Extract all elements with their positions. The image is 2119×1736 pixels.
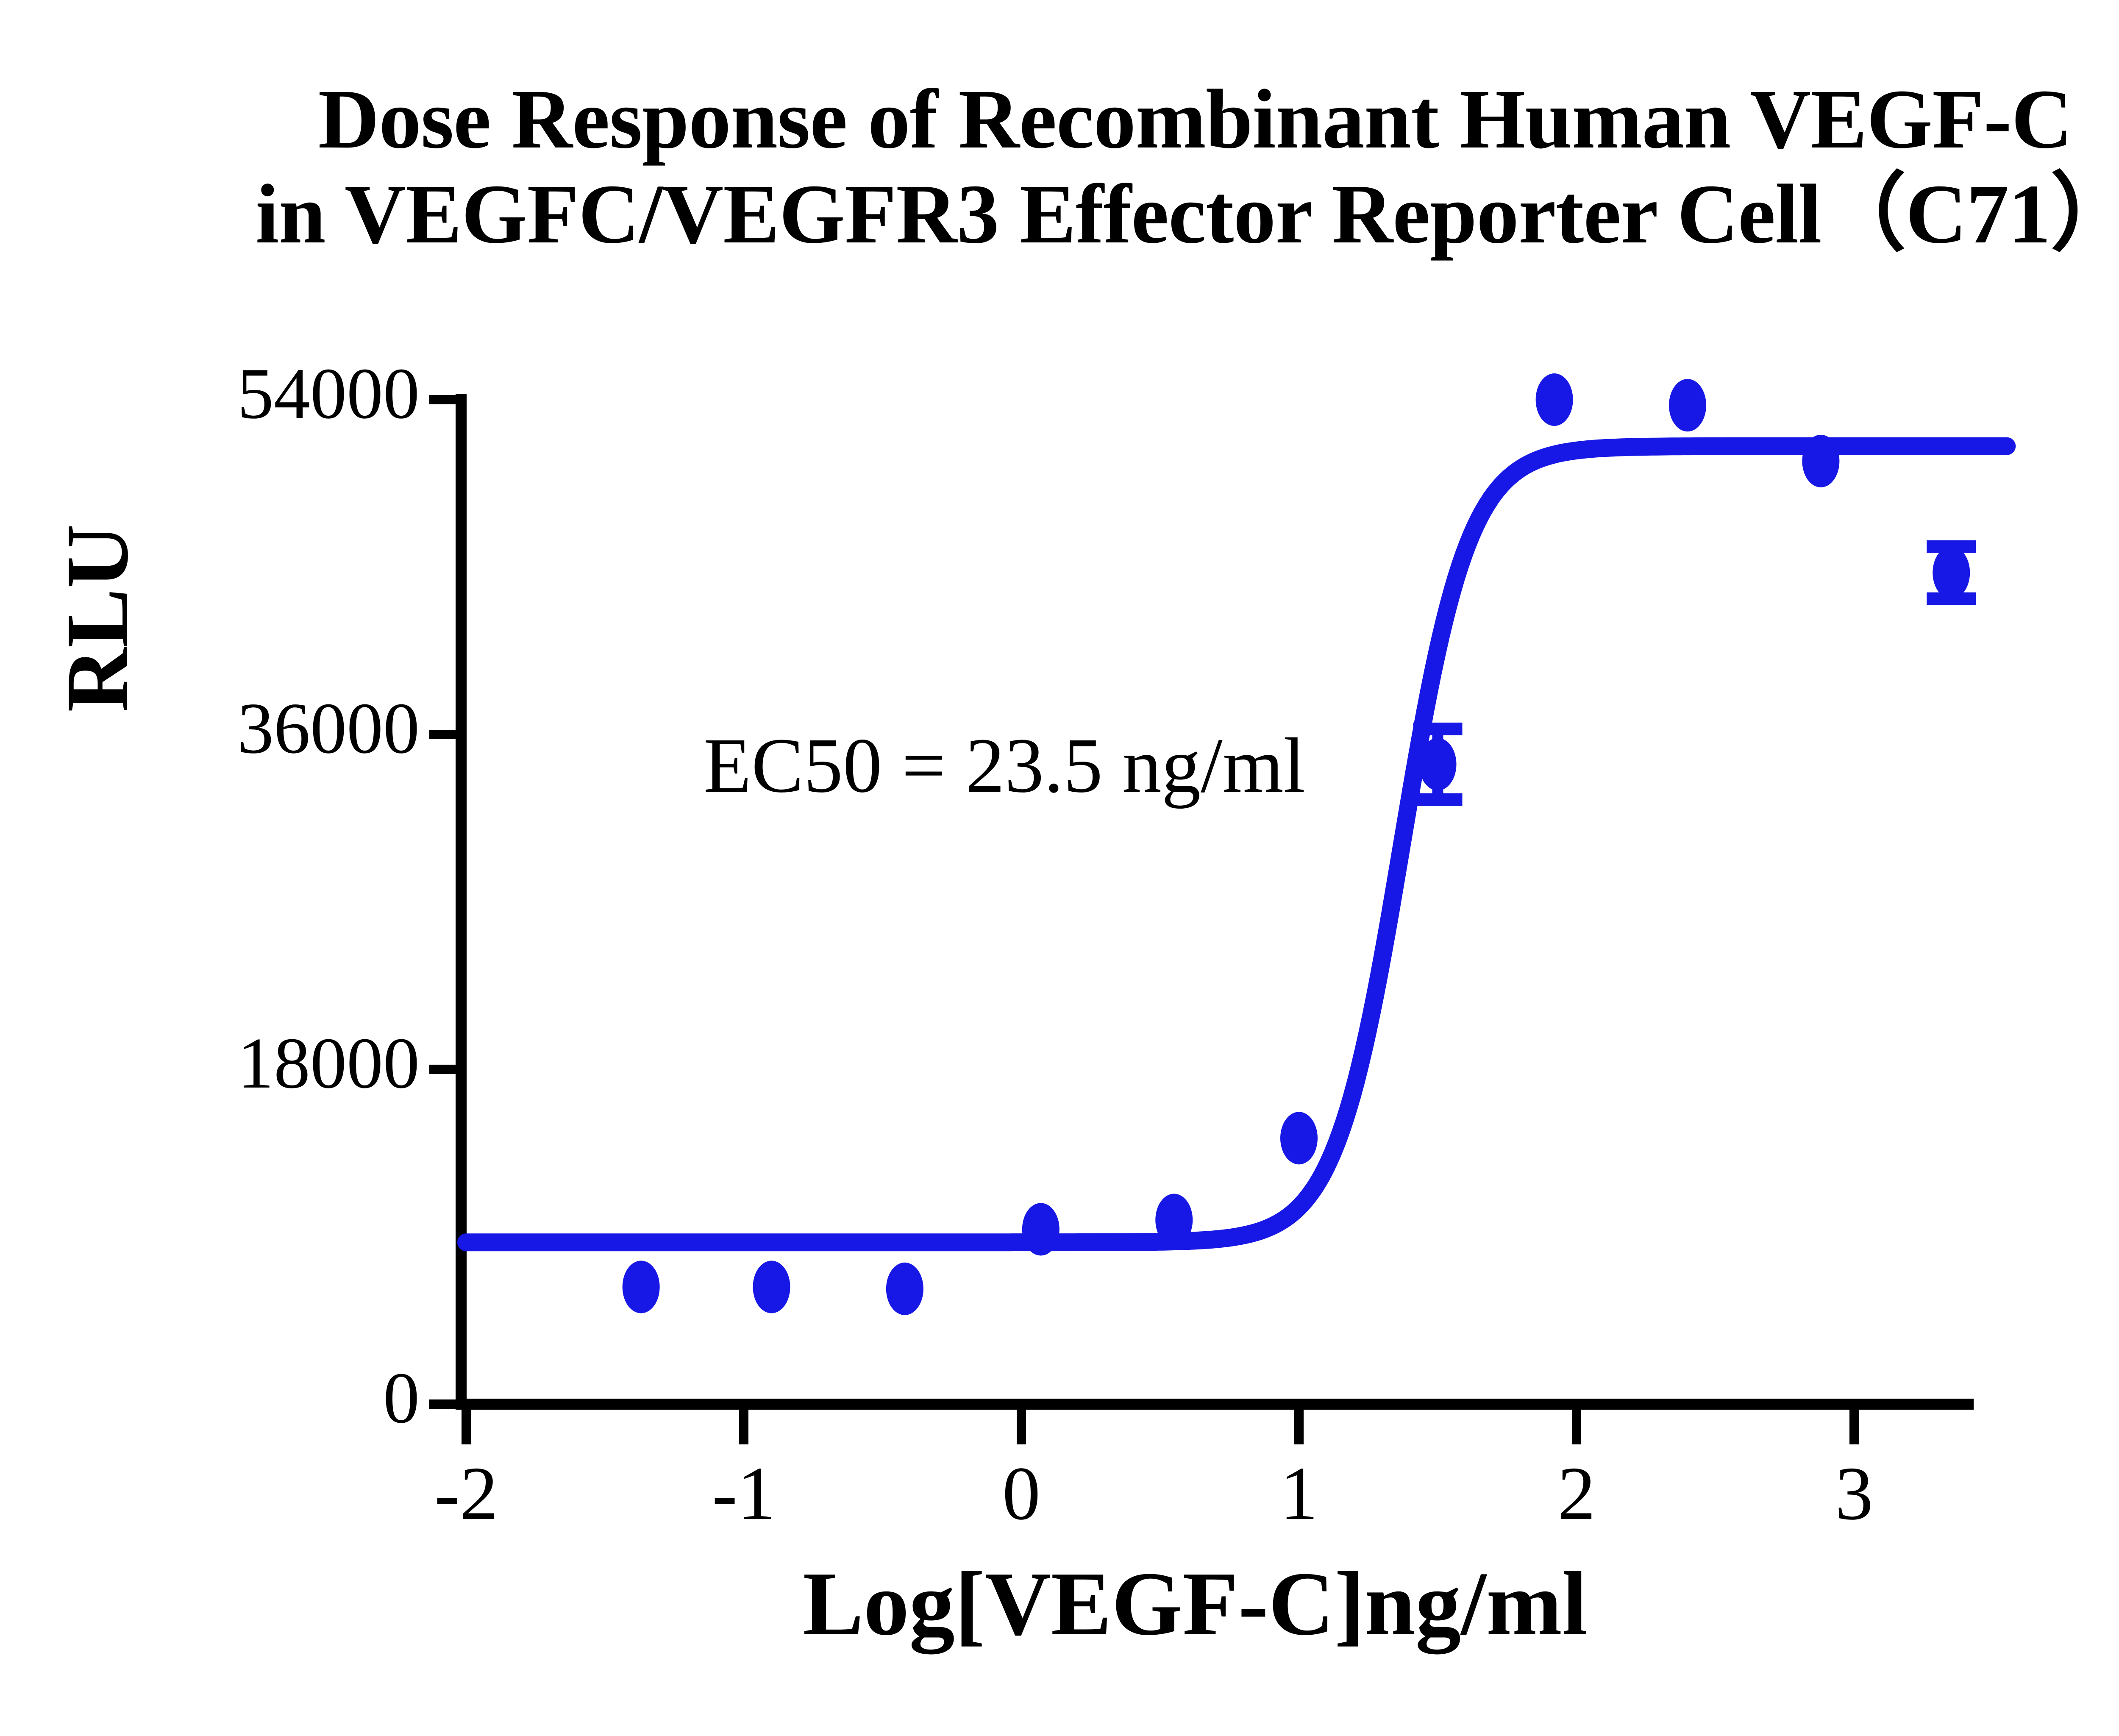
y-axis-tick [429, 1065, 456, 1074]
x-axis-tick [1017, 1410, 1026, 1444]
data-point [1280, 1112, 1318, 1164]
x-axis-title: Log[VEGF-C]ng/ml [0, 1551, 2119, 1656]
x-axis-tick [1294, 1410, 1304, 1444]
x-axis-tick-label: -2 [381, 1449, 551, 1537]
x-axis-tick [1849, 1410, 1859, 1444]
data-point [1802, 435, 1839, 487]
data-point [623, 1261, 660, 1313]
chart-title: Dose Response of Recombinant Human VEGF-… [0, 72, 2119, 262]
x-axis-tick-label: 2 [1492, 1449, 1661, 1537]
data-point [1419, 738, 1457, 790]
y-axis-line [456, 394, 467, 1407]
x-axis-tick-label: 3 [1769, 1449, 1939, 1537]
error-bar [1413, 729, 1463, 800]
chart-figure: Dose Response of Recombinant Human VEGF-… [0, 0, 2119, 1736]
error-bar [1927, 547, 1976, 599]
data-point [1536, 373, 1573, 426]
chart-title-line-1: Dose Response of Recombinant Human VEGF-… [0, 72, 2119, 167]
x-axis-tick-label: 1 [1214, 1449, 1384, 1537]
y-axis-tick-label: 0 [0, 1357, 420, 1440]
data-points-group [623, 373, 1970, 1315]
error-bars-group [1413, 547, 1976, 800]
data-point [753, 1261, 790, 1313]
x-axis-line [456, 1399, 1974, 1410]
data-point [1669, 379, 1706, 431]
y-axis-tick [429, 395, 456, 404]
data-point [886, 1263, 923, 1315]
data-point [1022, 1203, 1059, 1255]
x-axis-tick-label: 0 [937, 1449, 1106, 1537]
y-axis-tick [429, 1399, 456, 1409]
dose-response-fit-curve [466, 446, 2007, 1243]
x-axis-tick [1572, 1410, 1581, 1444]
y-axis-tick-label: 18000 [0, 1022, 420, 1105]
y-axis-tick-label: 54000 [0, 352, 420, 436]
y-axis-title: RLU [47, 524, 149, 712]
y-axis-tick [429, 730, 456, 739]
x-axis-tick [462, 1410, 471, 1444]
x-axis-tick-label: -1 [659, 1449, 829, 1537]
x-axis-tick [739, 1410, 748, 1444]
chart-title-line-2: in VEGFC/VEGFR3 Effector Reporter Cell（C… [0, 167, 2119, 262]
data-point [1933, 546, 1970, 599]
ec50-annotation: EC50 = 23.5 ng/ml [704, 721, 1305, 811]
data-point [1155, 1194, 1193, 1246]
